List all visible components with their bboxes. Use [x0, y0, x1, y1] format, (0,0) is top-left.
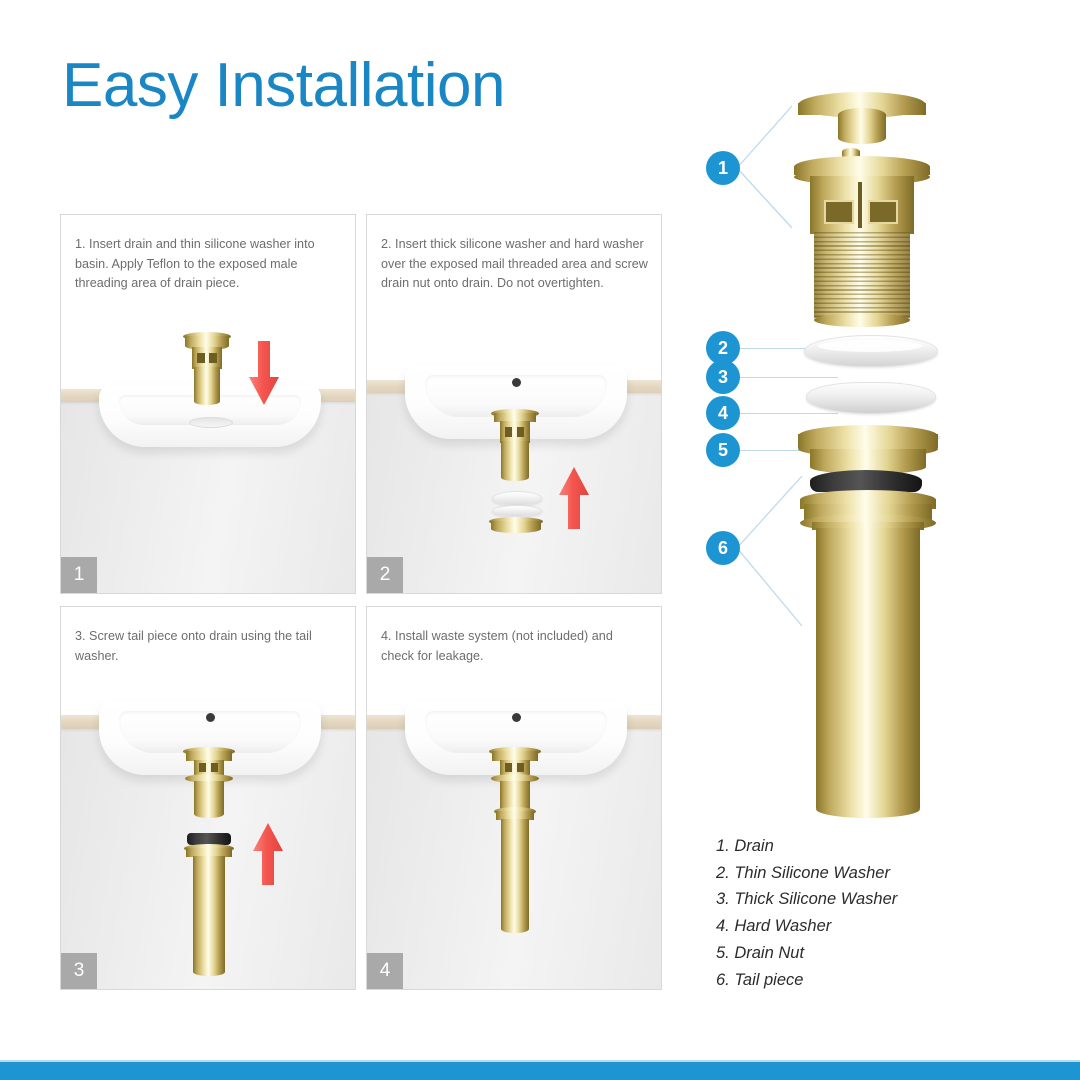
callout-badge-6[interactable]: 6	[706, 531, 740, 565]
installation-infographic: Easy Installation 1. Insert drain and th…	[0, 0, 1080, 1080]
legend-item-1: 1. Drain	[716, 833, 1036, 860]
legend-item-3: 3. Thick Silicone Washer	[716, 886, 1036, 913]
legend-item-2: 2. Thin Silicone Washer	[716, 860, 1036, 887]
page-title: Easy Installation	[62, 52, 505, 120]
step-illustration-3	[61, 691, 355, 989]
step-caption-2: 2. Insert thick silicone washer and hard…	[381, 235, 649, 294]
legend-item-5: 5. Drain Nut	[716, 940, 1036, 967]
basin-overflow-hole	[512, 378, 521, 387]
step-illustration-2	[367, 335, 661, 593]
step-panel-1: 1. Insert drain and thin silicone washer…	[60, 214, 356, 594]
parts-legend: 1. Drain 2. Thin Silicone Washer 3. Thic…	[716, 833, 1036, 993]
step-illustration-4	[367, 691, 661, 989]
arrow-up-icon	[251, 821, 285, 887]
step-caption-3: 3. Screw tail piece onto drain using the…	[75, 627, 343, 666]
callout-4-leader-line	[738, 413, 838, 414]
thick-silicone-washer	[492, 491, 542, 506]
legend-item-6: 6. Tail piece	[716, 967, 1036, 994]
basin-overflow-hole	[512, 713, 521, 722]
step-caption-1: 1. Insert drain and thin silicone washer…	[75, 235, 343, 294]
basin-drain-opening	[189, 417, 233, 428]
step-panel-2: 2. Insert thick silicone washer and hard…	[366, 214, 662, 594]
step-number-badge-4: 4	[367, 953, 403, 989]
step-illustration-1	[61, 301, 355, 593]
callout-badge-1[interactable]: 1	[706, 151, 740, 185]
step-number-badge-2: 2	[367, 557, 403, 593]
step-panel-4: 4. Install waste system (not included) a…	[366, 606, 662, 990]
callout-badge-3[interactable]: 3	[706, 360, 740, 394]
callout-badge-5[interactable]: 5	[706, 433, 740, 467]
legend-item-4: 4. Hard Washer	[716, 913, 1036, 940]
step-panel-3: 3. Screw tail piece onto drain using the…	[60, 606, 356, 990]
bottom-accent-bar	[0, 1060, 1080, 1080]
callout-badge-4[interactable]: 4	[706, 396, 740, 430]
tail-washer-part	[810, 470, 922, 492]
step-number-badge-3: 3	[61, 953, 97, 989]
step-caption-4: 4. Install waste system (not included) a…	[381, 627, 649, 666]
exploded-parts-diagram: 1 2 3 4 5 6	[690, 70, 1020, 830]
arrow-down-icon	[247, 341, 281, 407]
step-number-badge-1: 1	[61, 557, 97, 593]
basin-overflow-hole	[206, 713, 215, 722]
hard-washer	[492, 505, 542, 517]
arrow-up-icon	[557, 465, 591, 531]
callout-3-leader-line	[738, 377, 838, 378]
